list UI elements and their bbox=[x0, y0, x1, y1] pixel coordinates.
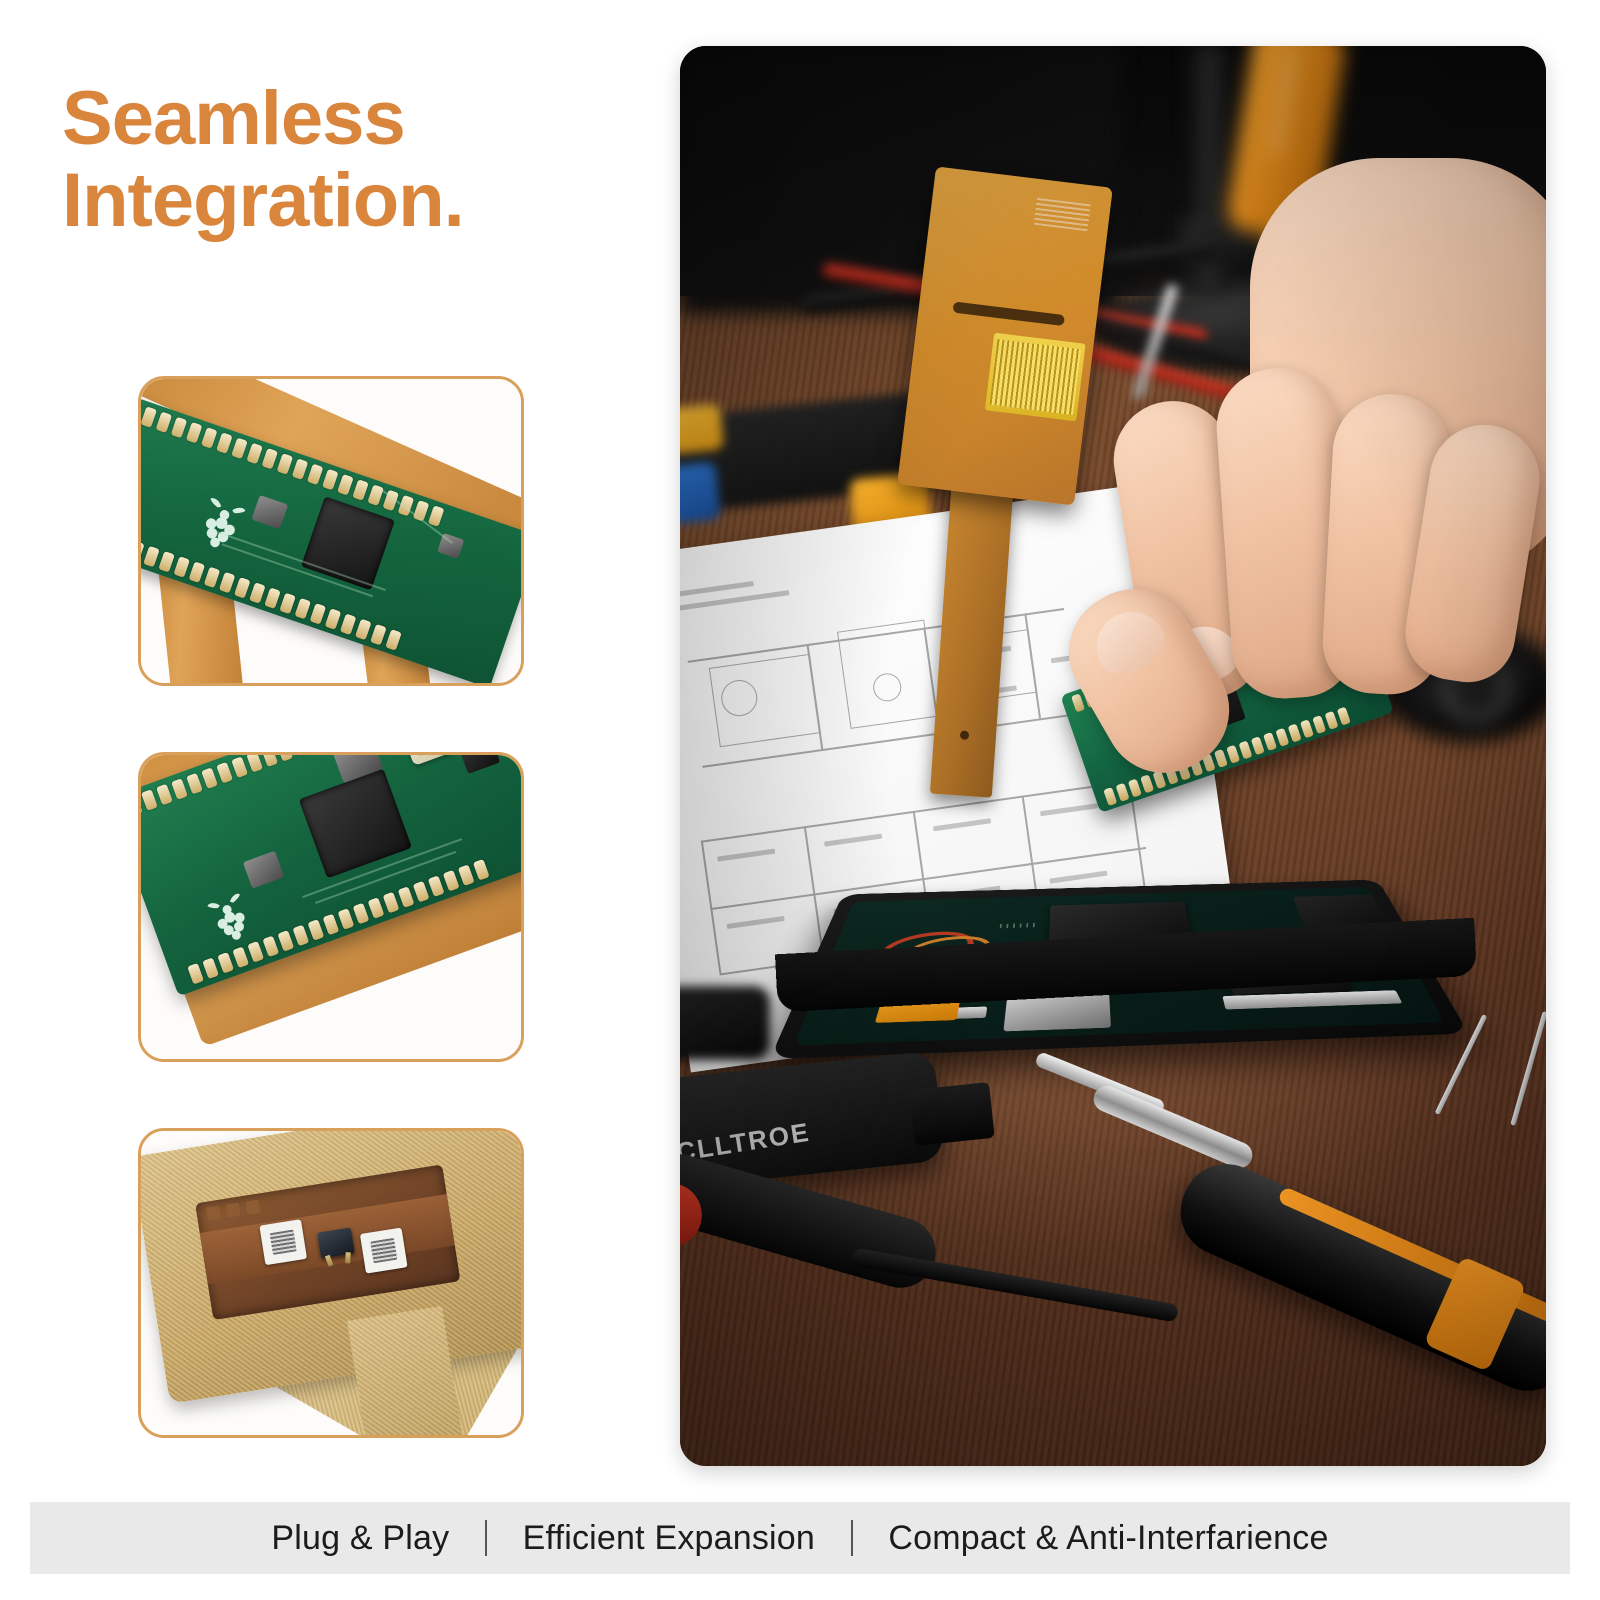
footer-text-row: Plug & Play Efficient Expansion Compact … bbox=[271, 1519, 1328, 1558]
page-title: Seamless Integration. bbox=[62, 78, 662, 242]
headline-line-1: Seamless bbox=[62, 76, 405, 161]
feature-footer-bar: Plug & Play Efficient Expansion Compact … bbox=[30, 1502, 1570, 1574]
bootsel-button-icon bbox=[401, 755, 456, 766]
product-feature-page: Seamless Integration. bbox=[0, 0, 1600, 1600]
wire-bond-pad-left bbox=[259, 1219, 307, 1265]
card-image-pico-top-view bbox=[141, 379, 521, 683]
footer-separator-1 bbox=[485, 1520, 487, 1556]
thumbnail-card-pico-angled[interactable] bbox=[138, 752, 524, 1062]
footer-item-compact-anti-interfarience: Compact & Anti-Interfarience bbox=[888, 1519, 1328, 1557]
regulator-chip-icon bbox=[459, 755, 500, 774]
bare-die-chip-icon bbox=[317, 1227, 355, 1258]
footer-item-plug-and-play: Plug & Play bbox=[271, 1519, 449, 1557]
card-image-flex-window bbox=[141, 1131, 521, 1435]
thumbnail-card-list bbox=[138, 376, 524, 1504]
thumbnail-card-flex-window[interactable] bbox=[138, 1128, 524, 1438]
footer-separator-2 bbox=[851, 1520, 853, 1556]
headline-line-2: Integration. bbox=[62, 160, 662, 242]
footer-item-efficient-expansion: Efficient Expansion bbox=[523, 1519, 815, 1557]
hero-product-photo[interactable]: CLLTROE bbox=[680, 46, 1546, 1466]
thumbnail-card-pico-top-view[interactable] bbox=[138, 376, 524, 686]
photo-vignette bbox=[680, 46, 1546, 1466]
cutout-window bbox=[195, 1164, 460, 1320]
crystal-oscillator-icon bbox=[243, 851, 285, 889]
regulator-chip-icon bbox=[437, 533, 464, 559]
wire-bond-pad-right bbox=[360, 1228, 408, 1274]
card-image-pico-angled bbox=[141, 755, 521, 1059]
solder-pad-row bbox=[206, 1200, 260, 1221]
